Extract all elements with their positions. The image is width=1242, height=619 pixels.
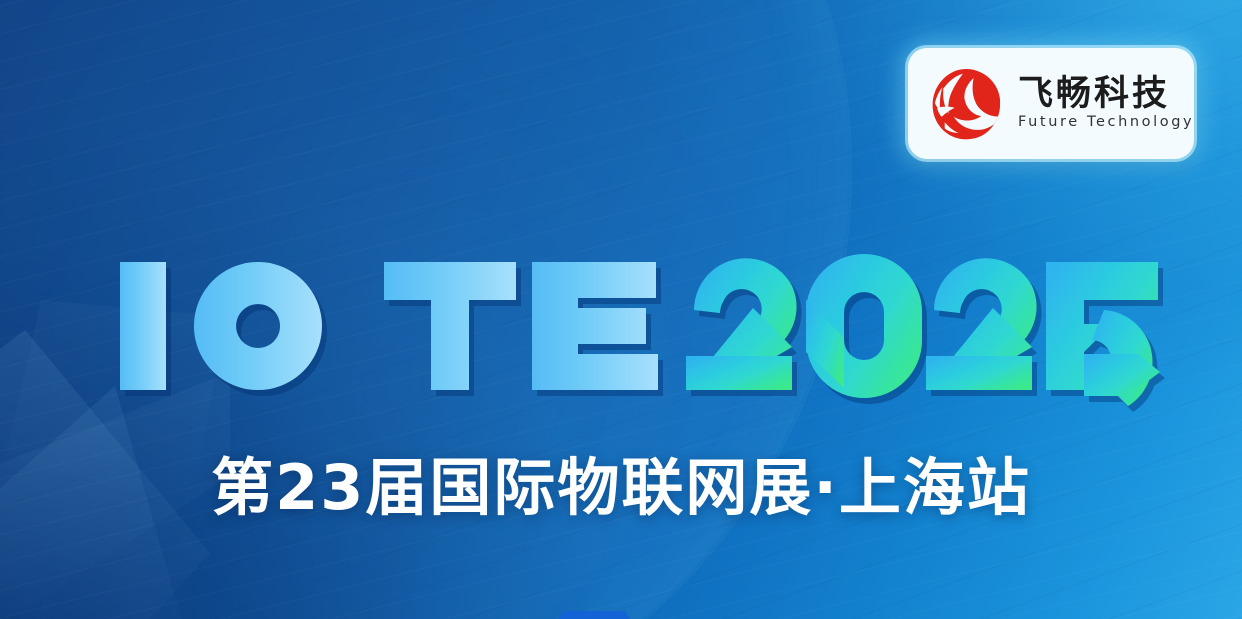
partner-name-cn: 飞畅科技 xyxy=(1018,76,1194,113)
partner-logo-wordmark: 飞畅科技 Future Technology xyxy=(1018,76,1194,131)
event-banner: 飞畅科技 Future Technology xyxy=(0,0,1242,619)
wordmark-year xyxy=(686,254,1160,406)
event-subtitle: 第23届国际物联网展·上海站 xyxy=(0,455,1242,520)
wordmark-iote xyxy=(120,262,658,390)
event-wordmark xyxy=(108,248,1088,400)
fly-swoosh-circle-icon xyxy=(928,66,1004,142)
partner-logo-badge[interactable]: 飞畅科技 Future Technology xyxy=(908,48,1194,159)
partner-name-en: Future Technology xyxy=(1018,115,1194,131)
bottom-trapezoid-accent xyxy=(556,611,632,619)
